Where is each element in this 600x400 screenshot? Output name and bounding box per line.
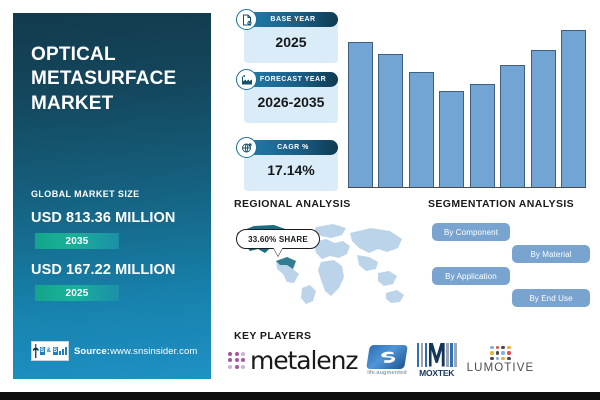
document-report-icon	[236, 9, 257, 30]
key-players-title: KEY PLAYERS	[234, 330, 311, 342]
logo-lumotive: LUMOTIVE	[467, 346, 535, 375]
segment-by-material[interactable]: By Material	[512, 245, 590, 263]
segment-by-application[interactable]: By Application	[432, 267, 510, 285]
sns-insider-logo-icon: S & S	[31, 341, 69, 361]
forecast-market-value: USD 813.36 MILLION	[31, 210, 175, 226]
metalenz-dots-icon	[228, 352, 245, 369]
base-year-chip: 2025	[35, 285, 119, 301]
source-row: S & S Source:www.snsinsider.com	[31, 341, 197, 361]
global-market-size-label: GLOBAL MARKET SIZE	[31, 189, 140, 199]
moxtek-mark-icon	[417, 343, 457, 367]
chart-x-axis	[348, 187, 586, 188]
world-map: 33.60% SHARE	[228, 213, 418, 318]
chart-bars	[348, 18, 586, 187]
regional-analysis-title: REGIONAL ANALYSIS	[234, 198, 351, 210]
market-growth-bar-chart	[348, 18, 586, 188]
infographic-root: OPTICAL METASURFACE MARKET GLOBAL MARKET…	[0, 0, 600, 400]
title-panel: OPTICAL METASURFACE MARKET GLOBAL MARKET…	[8, 8, 216, 384]
chart-bar	[439, 91, 464, 187]
st-swirl-icon	[374, 349, 400, 364]
chart-bar	[348, 42, 373, 187]
bottom-frame-bar	[0, 392, 600, 400]
segment-by-component[interactable]: By Component	[432, 223, 510, 241]
chart-bar	[409, 72, 434, 187]
logo-metalenz: metalenz	[228, 346, 357, 375]
chart-bar	[470, 84, 495, 187]
chart-bar	[531, 50, 556, 187]
st-tagline: life.augmented	[367, 370, 406, 376]
logo-metalenz-wordmark: metalenz	[250, 346, 357, 375]
forecast-year-chip: 2035	[35, 233, 119, 249]
source-prefix: Source:	[74, 346, 110, 357]
kpi-cagr-label: CAGR %	[248, 140, 338, 155]
globe-growth-icon	[236, 137, 257, 158]
segment-by-end-use[interactable]: By End Use	[512, 289, 590, 307]
source-text[interactable]: Source:www.snsinsider.com	[74, 346, 197, 357]
kpi-base-year-label: BASE YEAR	[248, 12, 338, 27]
page-title: OPTICAL METASURFACE MARKET	[31, 43, 201, 116]
source-url: www.snsinsider.com	[110, 346, 197, 357]
lumotive-dots-icon	[490, 346, 510, 361]
logo-moxtek: MOXTEK	[417, 343, 457, 378]
north-america-share-badge: 33.60% SHARE	[236, 229, 320, 249]
key-players-logos: metalenz life.augmented MOXTEK	[228, 342, 592, 378]
chart-bar	[500, 65, 525, 187]
st-mark-icon	[366, 345, 408, 369]
kpi-base-year-value: 2025	[244, 34, 338, 50]
kpi-cagr-value: 17.14%	[244, 162, 338, 178]
factory-icon	[236, 69, 257, 90]
chart-bar	[378, 54, 403, 188]
base-market-value: USD 167.22 MILLION	[31, 262, 175, 278]
logo-lumotive-wordmark: LUMOTIVE	[467, 362, 535, 374]
segmentation-analysis-title: SEGMENTATION ANALYSIS	[428, 198, 574, 210]
logo-moxtek-wordmark: MOXTEK	[419, 368, 454, 378]
logo-st: life.augmented	[367, 345, 406, 376]
kpi-forecast-year-value: 2026-2035	[244, 94, 338, 110]
kpi-forecast-year-label: FORECAST YEAR	[248, 72, 338, 87]
chart-bar	[561, 30, 586, 187]
